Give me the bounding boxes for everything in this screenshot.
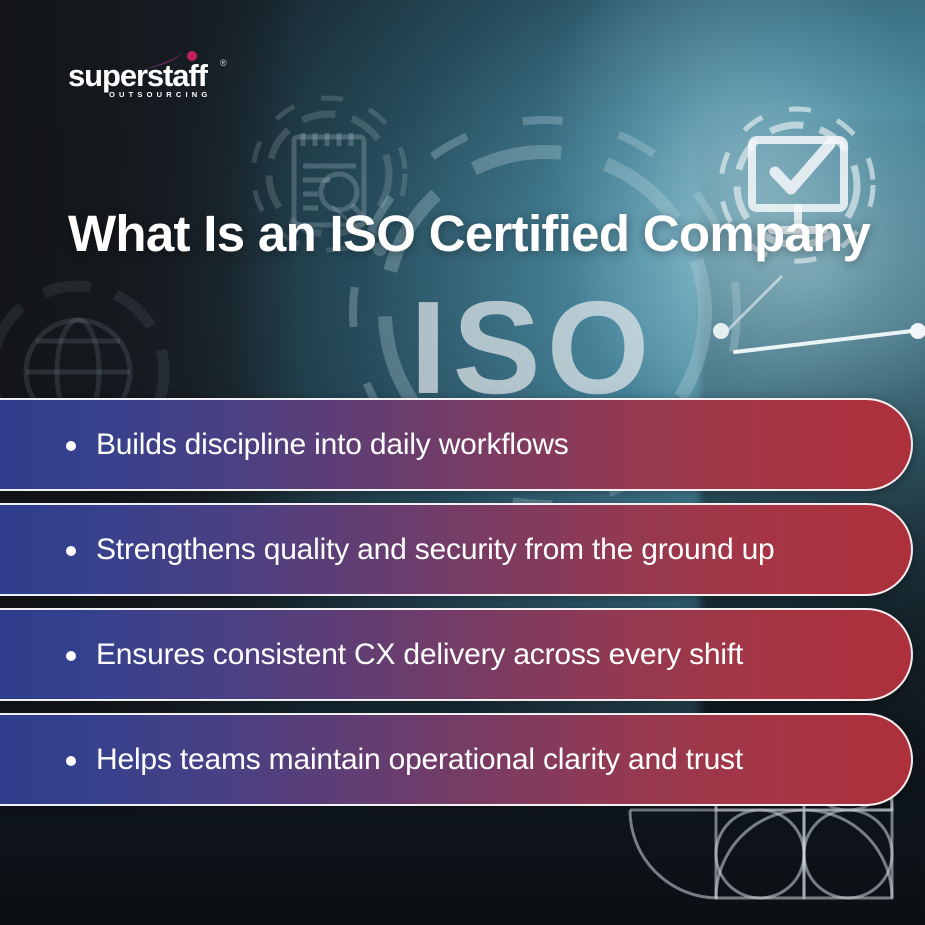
background-texture [0, 0, 925, 925]
infographic-canvas: ISO superstaff ® OUTSOURCING What Is an … [0, 0, 925, 925]
